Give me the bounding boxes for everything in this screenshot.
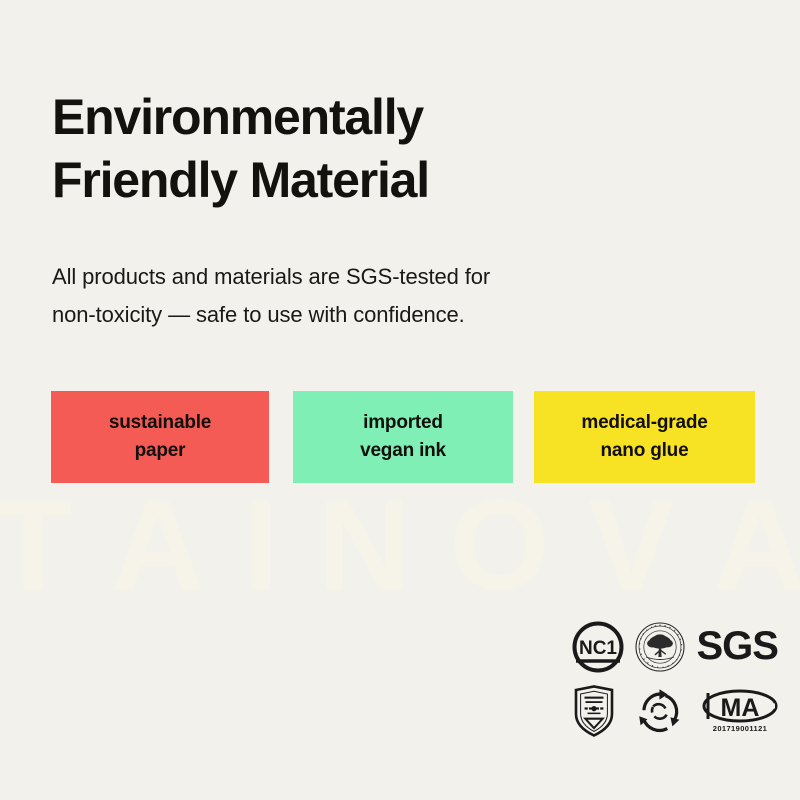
watermark-letter: V [589,482,674,610]
material-badge-line-1: medical-grade [581,409,707,437]
nc1-circle-icon: NC1 [572,621,624,673]
poster-canvas: T A I N O V A Environmentally Friendly M… [0,0,800,800]
certification-logo-group: NC1 [572,618,778,746]
page-subtitle-line-1: All products and materials are SGS-teste… [52,258,692,296]
material-badge-imported-vegan-ink: imported vegan ink [293,391,513,483]
watermark-letter: T [0,482,72,610]
watermark-letter: A [714,482,800,610]
material-badge-line-1: imported [363,409,443,437]
watermark-letter: O [450,482,550,610]
watermark-letter: A [112,482,204,610]
svg-text:MA: MA [721,694,760,722]
certification-row-top: NC1 [572,618,778,676]
page-title-line-1: Environmentally [52,86,752,149]
tree-seal-icon [634,621,686,673]
material-badge-line-1: sustainable [109,409,211,437]
cma-oval-shape: MA [702,689,778,723]
material-badge-line-2: nano glue [601,437,689,465]
cma-registration-number: 201719001121 [713,724,767,733]
page-title: Environmentally Friendly Material [52,86,752,212]
material-badge-line-2: vegan ink [360,437,446,465]
watermark-tainova: T A I N O V A [0,486,800,606]
material-badge-group: sustainable paper imported vegan ink med… [51,391,755,485]
sgs-wordmark-icon: SGS [697,626,778,668]
material-badge-medical-grade-nano-glue: medical-grade nano glue [534,391,755,483]
certification-row-bottom: MA 201719001121 [572,682,778,740]
page-title-line-2: Friendly Material [52,149,752,212]
material-badge-sustainable-paper: sustainable paper [51,391,269,483]
svg-text:NC1: NC1 [579,638,617,659]
recycling-arrows-icon [634,686,684,736]
watermark-letter: I [243,482,279,610]
page-subtitle-line-2: non-toxicity — safe to use with confiden… [52,296,692,334]
watermark-letter: N [318,482,410,610]
page-subtitle: All products and materials are SGS-teste… [52,258,692,334]
shield-badge-icon [572,684,616,738]
cma-oval-icon: MA 201719001121 [702,689,778,733]
material-badge-line-2: paper [135,437,186,465]
